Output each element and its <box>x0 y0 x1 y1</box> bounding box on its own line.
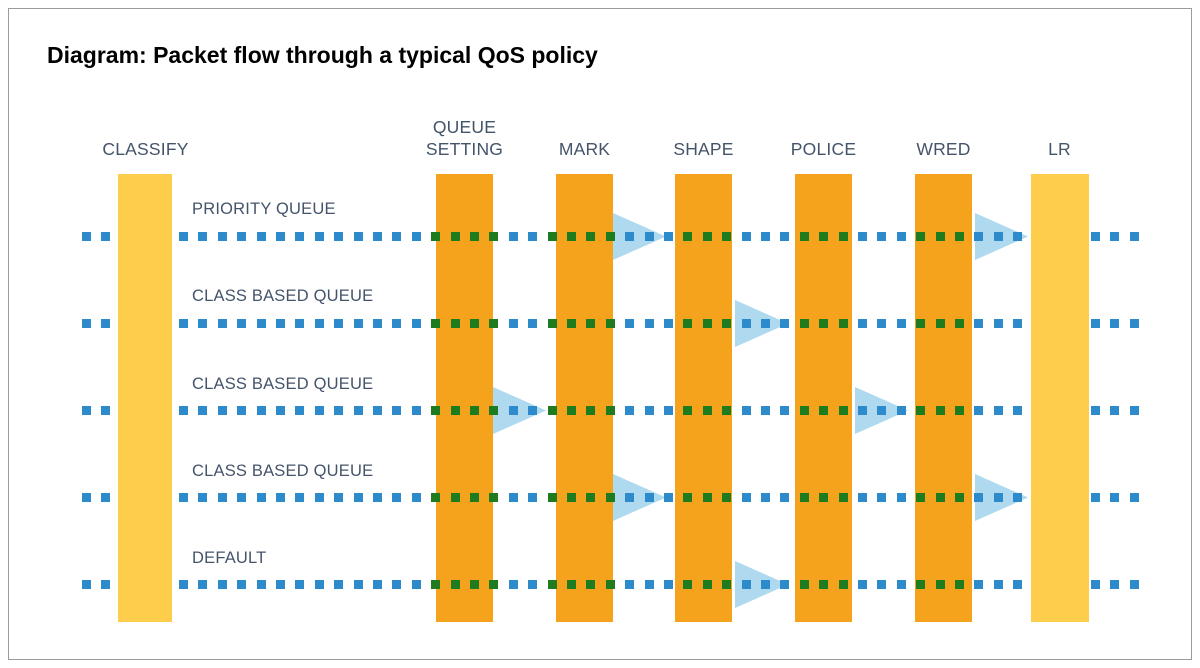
flow-dash <box>179 493 188 502</box>
row-label-class-based-queue-1: CLASS BASED QUEUE <box>192 287 373 306</box>
flow-dash <box>858 319 867 328</box>
flow-dash <box>315 406 324 415</box>
flow-dash <box>237 493 246 502</box>
flow-dash <box>1013 406 1022 415</box>
flow-dash-marked <box>489 406 498 415</box>
flow-dash <box>257 406 266 415</box>
flow-dash <box>1110 232 1119 241</box>
flow-dash <box>373 493 382 502</box>
flow-dash <box>897 406 906 415</box>
flow-dash <box>974 319 983 328</box>
flow-dash <box>645 406 654 415</box>
flow-dash-marked <box>722 319 731 328</box>
flow-dash-marked <box>839 319 848 328</box>
flow-dash <box>392 493 401 502</box>
flow-dash <box>1013 232 1022 241</box>
flow-dash <box>897 493 906 502</box>
flow-dash <box>101 493 110 502</box>
flow-dash <box>392 406 401 415</box>
flow-dash <box>412 580 421 589</box>
flow-dash <box>373 406 382 415</box>
flow-dash-marked <box>722 493 731 502</box>
flow-dash-marked <box>800 406 809 415</box>
flow-dash-marked <box>548 232 557 241</box>
flow-dash-marked <box>606 406 615 415</box>
flow-dash <box>509 580 518 589</box>
flow-dash <box>412 493 421 502</box>
flow-dash <box>257 580 266 589</box>
flow-dash <box>218 580 227 589</box>
flow-arrow-priority-queue-1 <box>613 213 666 260</box>
flow-dash <box>82 406 91 415</box>
flow-dash <box>334 406 343 415</box>
flow-dash <box>295 580 304 589</box>
flow-dash-marked <box>586 406 595 415</box>
flow-dash <box>994 232 1003 241</box>
flow-dash <box>528 580 537 589</box>
flow-dash-marked <box>819 406 828 415</box>
flow-dash <box>1013 580 1022 589</box>
flow-dash <box>373 580 382 589</box>
flow-dash <box>392 232 401 241</box>
flow-dash-marked <box>586 580 595 589</box>
flow-dash <box>645 580 654 589</box>
flow-dash <box>742 406 751 415</box>
flow-dash <box>276 580 285 589</box>
flow-dash <box>101 406 110 415</box>
flow-dash-marked <box>819 319 828 328</box>
flow-dash <box>179 406 188 415</box>
flow-dash <box>780 493 789 502</box>
flow-dash <box>237 319 246 328</box>
flow-dash <box>198 493 207 502</box>
flow-dash <box>1013 319 1022 328</box>
flow-dash-marked <box>431 319 440 328</box>
column-header-classify: CLASSIFY <box>68 138 223 160</box>
flow-dash <box>1110 406 1119 415</box>
flow-dash <box>1091 319 1100 328</box>
flow-dash-marked <box>916 580 925 589</box>
flow-dash <box>276 406 285 415</box>
flow-dash <box>315 319 324 328</box>
flow-dash-marked <box>955 406 964 415</box>
flow-dash-marked <box>567 580 576 589</box>
flow-dash <box>877 232 886 241</box>
flow-dash-marked <box>703 319 712 328</box>
flow-dash <box>1091 580 1100 589</box>
flow-dash <box>392 319 401 328</box>
flow-dash <box>354 319 363 328</box>
flow-dash-marked <box>800 493 809 502</box>
flow-dash <box>780 406 789 415</box>
flow-dash-marked <box>916 493 925 502</box>
flow-dash <box>1130 493 1139 502</box>
flow-dash-marked <box>839 493 848 502</box>
flow-dash-marked <box>548 580 557 589</box>
flow-dash <box>295 406 304 415</box>
flow-dash <box>179 232 188 241</box>
flow-dash <box>877 493 886 502</box>
flow-dash <box>276 493 285 502</box>
flow-dash <box>994 493 1003 502</box>
flow-dash <box>664 232 673 241</box>
flow-dash-marked <box>955 493 964 502</box>
flow-dash-marked <box>683 580 692 589</box>
flow-dash <box>257 319 266 328</box>
flow-dash <box>625 580 634 589</box>
flow-dash <box>1130 580 1139 589</box>
flow-dash <box>257 493 266 502</box>
flow-dash-marked <box>606 232 615 241</box>
flow-dash-marked <box>567 319 576 328</box>
flow-dash-marked <box>431 406 440 415</box>
flow-dash <box>334 319 343 328</box>
flow-dash <box>276 319 285 328</box>
flow-dash-marked <box>936 319 945 328</box>
flow-dash-marked <box>683 319 692 328</box>
flow-dash <box>237 232 246 241</box>
flow-dash <box>218 232 227 241</box>
flow-dash-marked <box>683 406 692 415</box>
flow-dash <box>1091 493 1100 502</box>
flow-dash <box>974 232 983 241</box>
flow-dash <box>315 580 324 589</box>
flow-dash <box>1110 493 1119 502</box>
flow-dash-marked <box>606 319 615 328</box>
flow-dash <box>412 232 421 241</box>
flow-dash-marked <box>722 580 731 589</box>
flow-dash-marked <box>916 319 925 328</box>
flow-dash <box>1013 493 1022 502</box>
flow-dash-marked <box>916 232 925 241</box>
flow-dash <box>179 580 188 589</box>
flow-dash <box>198 319 207 328</box>
flow-dash <box>897 580 906 589</box>
flow-dash-marked <box>606 580 615 589</box>
flow-dash-marked <box>819 580 828 589</box>
flow-dash <box>295 493 304 502</box>
flow-dash-marked <box>470 319 479 328</box>
flow-dash <box>412 406 421 415</box>
flow-dash <box>761 493 770 502</box>
flow-dash <box>625 319 634 328</box>
flow-dash-marked <box>819 493 828 502</box>
flow-dash-marked <box>548 406 557 415</box>
flow-dash <box>994 319 1003 328</box>
flow-dash-marked <box>451 406 460 415</box>
flow-dash <box>761 580 770 589</box>
flow-dash-marked <box>489 232 498 241</box>
row-label-priority-queue: PRIORITY QUEUE <box>192 200 336 219</box>
flow-dash-marked <box>451 493 460 502</box>
flow-dash <box>315 232 324 241</box>
flow-dash <box>295 232 304 241</box>
flow-line-default <box>0 580 1200 590</box>
flow-dash-marked <box>431 580 440 589</box>
flow-dash <box>509 319 518 328</box>
flow-dash <box>877 580 886 589</box>
flow-dash <box>354 232 363 241</box>
flow-dash-marked <box>567 232 576 241</box>
flow-arrow-class-based-queue-3-1 <box>613 474 666 521</box>
flow-dash-marked <box>955 580 964 589</box>
flow-dash <box>877 406 886 415</box>
flow-dash <box>218 406 227 415</box>
flow-dash-marked <box>548 493 557 502</box>
flow-dash <box>1091 232 1100 241</box>
flow-dash <box>198 232 207 241</box>
flow-dash-marked <box>955 319 964 328</box>
flow-dash-marked <box>800 232 809 241</box>
flow-dash-marked <box>955 232 964 241</box>
flow-dash-marked <box>936 580 945 589</box>
flow-dash-marked <box>451 580 460 589</box>
flow-dash <box>295 319 304 328</box>
flow-dash <box>664 580 673 589</box>
flow-dash-marked <box>683 232 692 241</box>
flow-dash-marked <box>703 493 712 502</box>
flow-dash <box>742 493 751 502</box>
flow-dash <box>664 319 673 328</box>
flow-dash <box>645 319 654 328</box>
flow-dash <box>974 406 983 415</box>
flow-dash-marked <box>722 406 731 415</box>
flow-dash-marked <box>489 493 498 502</box>
flow-dash <box>218 319 227 328</box>
flow-dash-marked <box>703 232 712 241</box>
flow-dash-marked <box>606 493 615 502</box>
row-label-default: DEFAULT <box>192 549 266 568</box>
flow-dash <box>625 232 634 241</box>
flow-dash-marked <box>936 232 945 241</box>
flow-dash-marked <box>800 580 809 589</box>
flow-dash <box>974 493 983 502</box>
flow-dash <box>373 232 382 241</box>
flow-dash <box>509 232 518 241</box>
flow-dash-marked <box>683 493 692 502</box>
diagram-canvas: Diagram: Packet flow through a typical Q… <box>0 0 1200 668</box>
flow-dash <box>82 232 91 241</box>
flow-dash <box>82 580 91 589</box>
flow-dash-marked <box>916 406 925 415</box>
flow-dash-marked <box>470 232 479 241</box>
flow-dash <box>1110 580 1119 589</box>
flow-dash <box>276 232 285 241</box>
flow-dash-marked <box>800 319 809 328</box>
flow-dash <box>179 319 188 328</box>
flow-dash <box>742 580 751 589</box>
flow-dash <box>412 319 421 328</box>
flow-dash <box>354 406 363 415</box>
flow-dash <box>664 406 673 415</box>
flow-dash <box>509 493 518 502</box>
flow-dash <box>237 580 246 589</box>
flow-dash <box>392 580 401 589</box>
flow-dash-marked <box>548 319 557 328</box>
flow-line-class-based-queue-2 <box>0 406 1200 416</box>
flow-dash <box>528 493 537 502</box>
flow-line-priority-queue <box>0 232 1200 242</box>
flow-dash <box>198 406 207 415</box>
flow-line-class-based-queue-3 <box>0 493 1200 503</box>
flow-dash <box>742 319 751 328</box>
flow-dash-marked <box>839 232 848 241</box>
flow-dash <box>528 319 537 328</box>
flow-dash <box>780 232 789 241</box>
flow-dash <box>334 580 343 589</box>
flow-dash <box>858 493 867 502</box>
flow-dash <box>858 232 867 241</box>
flow-dash-marked <box>586 232 595 241</box>
flow-dash <box>994 406 1003 415</box>
flow-dash <box>858 406 867 415</box>
flow-dash-marked <box>431 493 440 502</box>
flow-dash <box>645 493 654 502</box>
flow-dash <box>761 406 770 415</box>
flow-dash <box>1091 406 1100 415</box>
flow-dash <box>625 406 634 415</box>
flow-dash <box>509 406 518 415</box>
flow-dash <box>645 232 654 241</box>
flow-dash <box>1110 319 1119 328</box>
flow-dash <box>257 232 266 241</box>
flow-dash-marked <box>489 580 498 589</box>
flow-dash-marked <box>703 406 712 415</box>
flow-line-class-based-queue-1 <box>0 319 1200 329</box>
flow-dash <box>761 232 770 241</box>
flow-dash-marked <box>470 580 479 589</box>
flow-dash-marked <box>703 580 712 589</box>
flow-dash <box>82 493 91 502</box>
flow-dash <box>354 493 363 502</box>
flow-dash <box>780 580 789 589</box>
flow-dash-marked <box>451 232 460 241</box>
flow-dash <box>625 493 634 502</box>
flow-dash <box>334 232 343 241</box>
flow-dash <box>354 580 363 589</box>
flow-dash <box>780 319 789 328</box>
flow-dash <box>82 319 91 328</box>
flow-dash <box>528 232 537 241</box>
flow-dash-marked <box>567 493 576 502</box>
flow-dash <box>897 232 906 241</box>
flow-dash <box>237 406 246 415</box>
flow-dash <box>198 580 207 589</box>
flow-arrow-class-based-queue-2-1 <box>493 387 546 434</box>
flow-dash <box>1130 319 1139 328</box>
flow-dash <box>761 319 770 328</box>
flow-dash-marked <box>451 319 460 328</box>
flow-dash <box>101 580 110 589</box>
flow-dash <box>315 493 324 502</box>
flow-dash-marked <box>586 319 595 328</box>
flow-dash-marked <box>567 406 576 415</box>
flow-dash <box>742 232 751 241</box>
flow-dash <box>334 493 343 502</box>
flow-dash-marked <box>586 493 595 502</box>
flow-dash-marked <box>489 319 498 328</box>
flow-dash <box>974 580 983 589</box>
flow-dash-marked <box>722 232 731 241</box>
flow-dash <box>1130 232 1139 241</box>
flow-dash <box>101 232 110 241</box>
flow-dash <box>218 493 227 502</box>
flow-dash-marked <box>819 232 828 241</box>
flow-dash <box>858 580 867 589</box>
flow-dash-marked <box>470 493 479 502</box>
flow-dash <box>897 319 906 328</box>
flow-dash <box>1130 406 1139 415</box>
flow-dash-marked <box>839 406 848 415</box>
flow-dash-marked <box>936 493 945 502</box>
flow-dash <box>877 319 886 328</box>
row-label-class-based-queue-2: CLASS BASED QUEUE <box>192 375 373 394</box>
flow-dash <box>101 319 110 328</box>
flow-dash-marked <box>936 406 945 415</box>
flow-dash-marked <box>431 232 440 241</box>
page-title: Diagram: Packet flow through a typical Q… <box>47 42 598 69</box>
flow-dash-marked <box>470 406 479 415</box>
flow-dash <box>373 319 382 328</box>
column-header-lr: LR <box>982 138 1137 160</box>
flow-dash <box>528 406 537 415</box>
flow-dash <box>664 493 673 502</box>
flow-dash <box>994 580 1003 589</box>
row-label-class-based-queue-3: CLASS BASED QUEUE <box>192 462 373 481</box>
flow-dash-marked <box>839 580 848 589</box>
